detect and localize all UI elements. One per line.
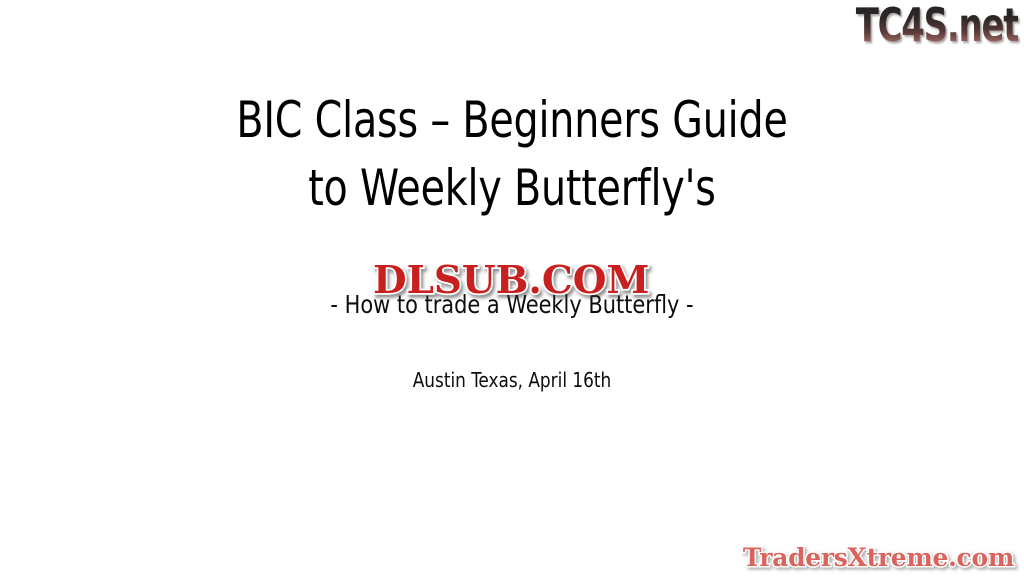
slide-title: BIC Class – Beginners Guide to Weekly Bu… <box>0 86 1024 222</box>
presentation-slide: BIC Class – Beginners Guide to Weekly Bu… <box>0 0 1024 576</box>
slide-title-line-2: to Weekly Butterfly's <box>61 154 962 222</box>
watermark-dlsub-com: DLSUB.COM <box>373 261 649 299</box>
watermark-tradersxtreme-com: TradersXtreme.com <box>743 545 1014 570</box>
slide-date-location: Austin Texas, April 16th <box>31 368 994 392</box>
watermark-tc4s-net: TC4S.net <box>855 2 1018 48</box>
slide-title-line-1: BIC Class – Beginners Guide <box>61 86 962 154</box>
